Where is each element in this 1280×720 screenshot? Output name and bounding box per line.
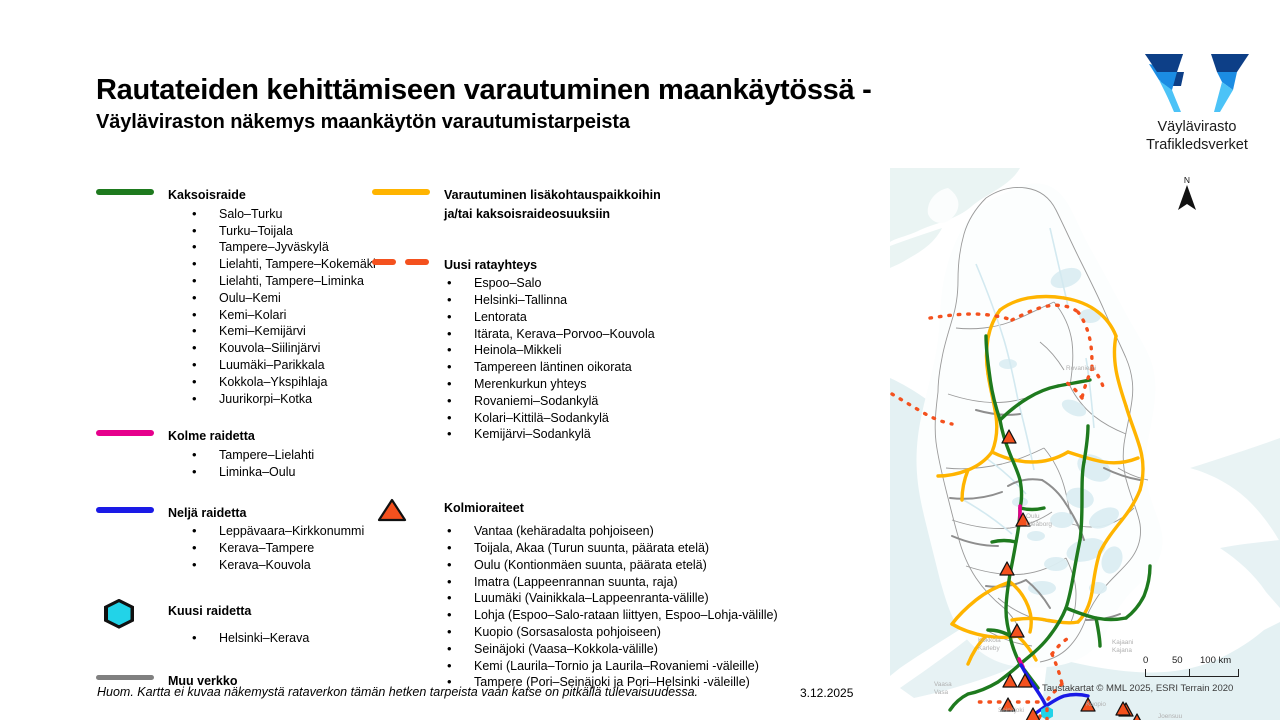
legend-swatch-gray-line xyxy=(96,672,168,680)
list-item: Kemijärvi–Sodankylä xyxy=(372,426,792,443)
vaylavirasto-v-icon xyxy=(1137,52,1257,114)
legend-list-kaksoisraide: Salo–Turku Turku–Toijala Tampere–Jyväsky… xyxy=(96,206,386,408)
legend-group-nelja-raidetta: Neljä raidetta Leppävaara–Kirkkonummi Ke… xyxy=(96,504,386,574)
svg-text:Kajana: Kajana xyxy=(1112,647,1132,654)
scale-label-0: 0 xyxy=(1143,655,1148,666)
legend-swatch-triangle xyxy=(372,495,444,522)
svg-text:Joensuu: Joensuu xyxy=(1158,713,1183,720)
list-item: Lielahti, Tampere–Liminka xyxy=(96,273,386,290)
list-item: Itärata, Kerava–Porvoo–Kouvola xyxy=(372,326,792,343)
finland-rail-map: Rovaniemi Oulu Uleåborg Kokkola Karleby … xyxy=(890,168,1280,720)
title-block: Rautateiden kehittämiseen varautuminen m… xyxy=(96,74,1046,134)
svg-text:Vasa: Vasa xyxy=(934,689,949,696)
list-item: Tampere–Jyväskylä xyxy=(96,239,386,256)
list-item: Vantaa (kehäradalta pohjoiseen) xyxy=(372,523,792,540)
legend-group-kolmioraiteet: Kolmioraiteet Vantaa (kehäradalta pohjoi… xyxy=(372,495,792,691)
legend-title-kuusi-raidetta: Kuusi raidetta xyxy=(168,596,251,621)
triangle-icon xyxy=(377,498,407,522)
legend-title-varautuminen-line1: Varautuminen lisäkohtauspaikkoihin xyxy=(444,188,661,202)
legend-title-varautuminen: Varautuminen lisäkohtauspaikkoihin ja/ta… xyxy=(444,186,661,224)
scale-label-50: 50 xyxy=(1172,655,1183,666)
legend-swatch-magenta-line xyxy=(96,427,168,436)
svg-text:Uleåborg: Uleåborg xyxy=(1026,520,1052,528)
legend-group-varautuminen: Varautuminen lisäkohtauspaikkoihin ja/ta… xyxy=(372,186,792,224)
list-item: Seinäjoki (Vaasa–Kokkola-välille) xyxy=(372,641,792,658)
map-scale-bar: 0 50 100 km xyxy=(1143,655,1253,667)
scale-rule xyxy=(1145,669,1239,677)
list-item: Turku–Toijala xyxy=(96,223,386,240)
logo-text: Väylävirasto Trafikledsverket xyxy=(1122,118,1272,154)
svg-text:Kuopio: Kuopio xyxy=(1086,701,1106,708)
scale-label-100: 100 km xyxy=(1200,655,1231,666)
list-item: Kolari–Kittilä–Sodankylä xyxy=(372,410,792,427)
legend-title-nelja-raidetta: Neljä raidetta xyxy=(168,504,247,523)
list-item: Espoo–Salo xyxy=(372,275,792,292)
svg-text:Vaasa: Vaasa xyxy=(934,681,952,688)
list-item: Luumäki (Vainikkala–Lappeenranta-välille… xyxy=(372,590,792,607)
map-svg: Rovaniemi Oulu Uleåborg Kokkola Karleby … xyxy=(890,168,1280,720)
vaylavirasto-logo: Väylävirasto Trafikledsverket xyxy=(1122,52,1272,154)
list-item: Tampereen läntinen oikorata xyxy=(372,359,792,376)
svg-text:Oulu: Oulu xyxy=(1026,513,1040,520)
footer-date: 3.12.2025 xyxy=(800,686,853,700)
legend-column-left: Kaksoisraide Salo–Turku Turku–Toijala Ta… xyxy=(96,186,386,690)
page-title: Rautateiden kehittämiseen varautuminen m… xyxy=(96,74,1046,107)
list-item: Toijala, Akaa (Turun suunta, päärata ete… xyxy=(372,540,792,557)
list-item: Salo–Turku xyxy=(96,206,386,223)
svg-text:Kokkola: Kokkola xyxy=(978,637,1001,644)
svg-text:Rovaniemi: Rovaniemi xyxy=(1066,365,1096,372)
list-item: Lohja (Espoo–Salo-rataan liittyen, Espoo… xyxy=(372,607,792,624)
legend-list-kuusi-raidetta: Helsinki–Kerava xyxy=(96,630,386,647)
legend-title-kolme-raidetta: Kolme raidetta xyxy=(168,427,255,446)
list-item: Merenkurkun yhteys xyxy=(372,376,792,393)
legend-title-kolmioraiteet: Kolmioraiteet xyxy=(444,495,524,518)
list-item: Oulu (Kontionmäen suunta, päärata etelä) xyxy=(372,557,792,574)
legend-swatch-dashed-orange-line xyxy=(372,256,444,265)
map-attribution: Taustakartat © MML 2025, ESRI Terrain 20… xyxy=(1042,683,1233,694)
hexagon-icon xyxy=(104,599,134,629)
list-item: Helsinki–Kerava xyxy=(96,630,386,647)
legend-title-kaksoisraide: Kaksoisraide xyxy=(168,186,246,205)
north-arrow-icon xyxy=(1176,184,1198,212)
list-item: Lielahti, Tampere–Kokemäki xyxy=(96,256,386,273)
list-item: Kerava–Kouvola xyxy=(96,557,386,574)
list-item: Oulu–Kemi xyxy=(96,290,386,307)
svg-text:Seinäjoki: Seinäjoki xyxy=(998,707,1024,714)
list-item: Heinola–Mikkeli xyxy=(372,342,792,359)
list-item: Rovaniemi–Sodankylä xyxy=(372,393,792,410)
list-item: Kuopio (Sorsasalosta pohjoiseen) xyxy=(372,624,792,641)
logo-text-fi: Väylävirasto xyxy=(1122,118,1272,136)
list-item: Juurikorpi–Kotka xyxy=(96,391,386,408)
list-item: Kerava–Tampere xyxy=(96,540,386,557)
legend-title-uusi-ratayhteys: Uusi ratayhteys xyxy=(444,256,537,275)
legend-swatch-hexagon xyxy=(96,596,168,629)
list-item: Lentorata xyxy=(372,309,792,326)
list-item: Kemi–Kemijärvi xyxy=(96,323,386,340)
list-item: Kemi–Kolari xyxy=(96,307,386,324)
legend-column-right: Varautuminen lisäkohtauspaikkoihin ja/ta… xyxy=(372,186,792,691)
legend-list-uusi-ratayhteys: Espoo–Salo Helsinki–Tallinna Lentorata I… xyxy=(372,275,792,443)
logo-text-sv: Trafikledsverket xyxy=(1122,136,1272,154)
footer-note: Huom. Kartta ei kuvaa näkemystä rataverk… xyxy=(97,685,698,699)
legend-group-kolme-raidetta: Kolme raidetta Tampere–Lielahti Liminka–… xyxy=(96,427,386,480)
legend-list-kolme-raidetta: Tampere–Lielahti Liminka–Oulu xyxy=(96,447,386,481)
legend-list-nelja-raidetta: Leppävaara–Kirkkonummi Kerava–Tampere Ke… xyxy=(96,523,386,573)
legend-swatch-blue-line xyxy=(96,504,168,513)
list-item: Luumäki–Parikkala xyxy=(96,357,386,374)
scale-tick xyxy=(1189,669,1190,676)
north-label: N xyxy=(1176,176,1198,184)
legend-swatch-green-line xyxy=(96,186,168,195)
slide-root: Rautateiden kehittämiseen varautuminen m… xyxy=(0,0,1280,720)
legend-group-uusi-ratayhteys: Uusi ratayhteys Espoo–Salo Helsinki–Tall… xyxy=(372,256,792,444)
list-item: Imatra (Lappeenrannan suunta, raja) xyxy=(372,574,792,591)
svg-text:Kajaani: Kajaani xyxy=(1112,639,1133,646)
list-item: Kouvola–Siilinjärvi xyxy=(96,340,386,357)
legend-swatch-amber-line xyxy=(372,186,444,195)
list-item: Leppävaara–Kirkkonummi xyxy=(96,523,386,540)
legend-group-kuusi-raidetta: Kuusi raidetta Helsinki–Kerava xyxy=(96,596,386,647)
legend-list-kolmioraiteet: Vantaa (kehäradalta pohjoiseen) Toijala,… xyxy=(372,523,792,691)
north-arrow: N xyxy=(1176,176,1198,212)
list-item: Liminka–Oulu xyxy=(96,464,386,481)
list-item: Tampere–Lielahti xyxy=(96,447,386,464)
list-item: Kokkola–Ykspihlaja xyxy=(96,374,386,391)
legend-title-varautuminen-line2: ja/tai kaksoisraideosuuksiin xyxy=(444,205,661,224)
page-subtitle: Väyläviraston näkemys maankäytön varautu… xyxy=(96,110,1046,134)
legend-group-kaksoisraide: Kaksoisraide Salo–Turku Turku–Toijala Ta… xyxy=(96,186,386,407)
list-item: Helsinki–Tallinna xyxy=(372,292,792,309)
list-item: Kemi (Laurila–Tornio ja Laurila–Rovaniem… xyxy=(372,658,792,675)
svg-text:Karleby: Karleby xyxy=(978,645,1000,652)
